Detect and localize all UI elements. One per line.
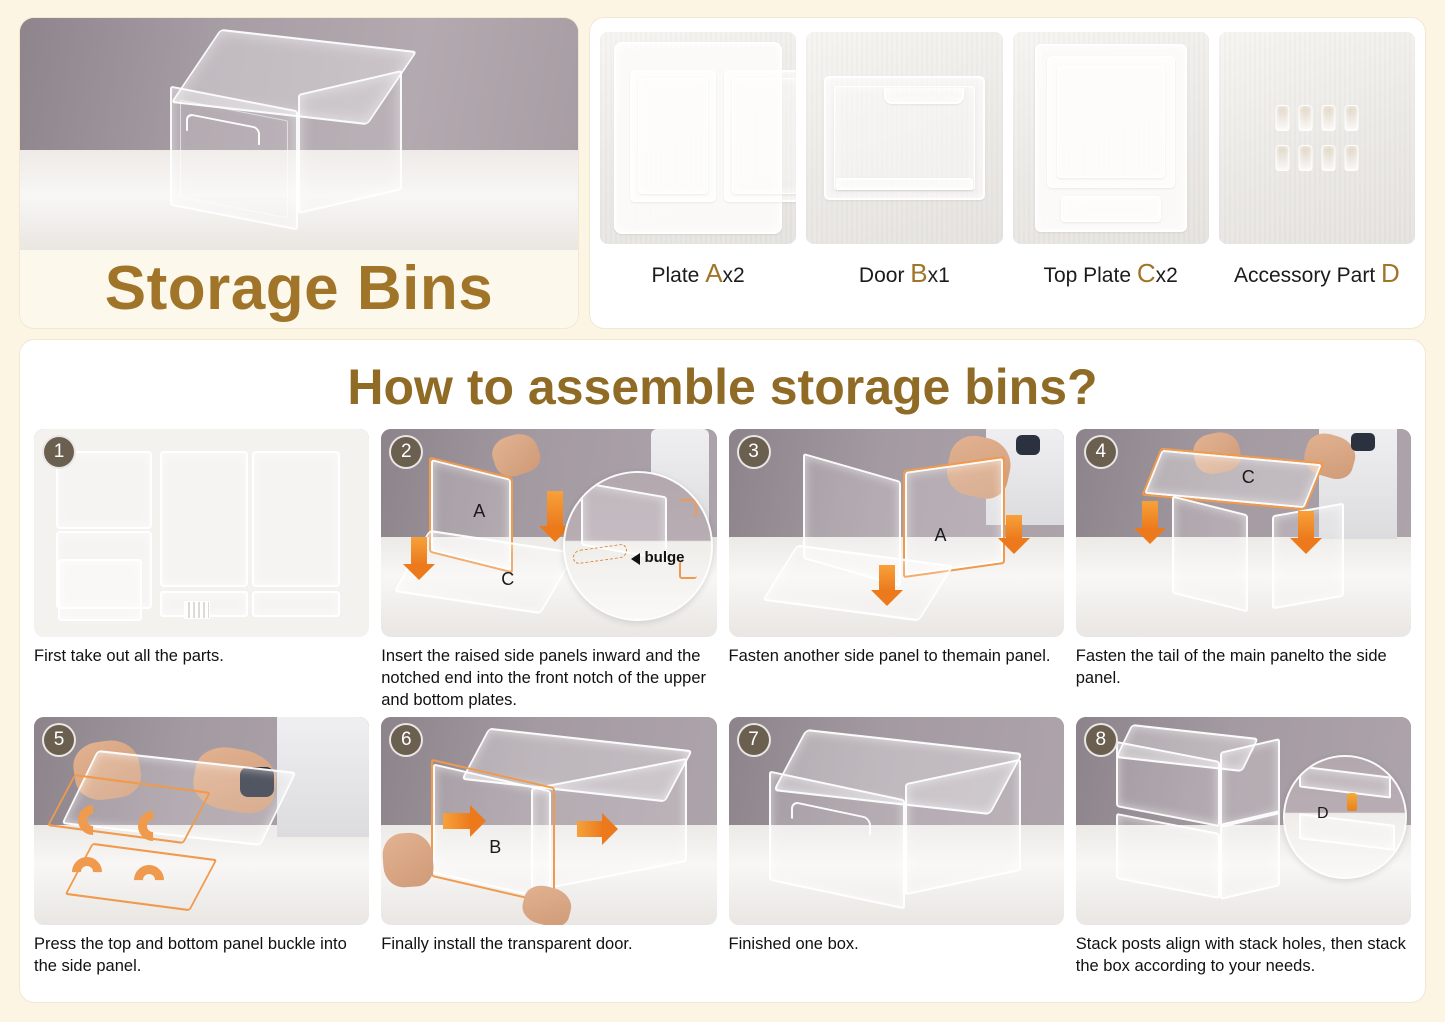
step-6-caption: Finally install the transparent door. [381,934,716,956]
arrow-down-icon [879,565,895,591]
assembly-step-8: 8 D Stack posts align with stack holes, … [1076,717,1411,999]
part-label-a: Plate Ax2 [652,258,745,289]
accessory-pin-row [1275,105,1358,131]
hero-banner: Storage Bins [20,250,578,328]
assembly-step-2: 2 A C [381,429,716,711]
part-item-b: Door Bx1 [806,32,1002,318]
step-3-photo: 3 A [729,429,1064,637]
part-top-plate-c1 [160,451,248,587]
assembly-title: How to assemble storage bins? [34,360,1411,415]
top-plate-c-inner [1057,66,1165,178]
accessory-pin [1275,105,1289,131]
bin-side-panel [298,70,402,214]
bulge-pointer-icon [631,553,640,565]
hero-product-photo [20,18,578,250]
step-number-badge: 3 [737,435,771,469]
label-c: C [1242,467,1255,488]
part-qty-a: x2 [723,264,745,287]
arrow-right-icon [443,813,471,829]
part-label-c: Top Plate Cx2 [1043,258,1177,289]
plate-a-inner-1 [638,78,708,194]
plate-a-inner-2 [732,78,796,194]
assembly-step-1: 1 First take out all the parts. [34,429,369,711]
step-number-badge: 7 [737,723,771,757]
accessory-pin [1298,145,1312,171]
accessory-pin [1321,145,1335,171]
step-number-badge: 2 [389,435,423,469]
label-c: C [501,569,514,590]
accessory-pin [1344,145,1358,171]
step-4-photo: 4 C [1076,429,1411,637]
accessory-pin [1298,105,1312,131]
part-item-c: Top Plate Cx2 [1013,32,1209,318]
part-name-c: Top Plate [1043,264,1136,287]
arrow-down-icon [1006,515,1022,539]
assembly-step-6: 6 B Finally install the transparent door… [381,717,716,999]
accessory-pin [1275,145,1289,171]
arrow-down-icon [411,537,427,565]
part-letter-d: D [1381,258,1400,288]
part-accessory-d [184,601,210,619]
part-qty-b: x1 [928,264,950,287]
part-door-b [58,559,142,621]
assembly-steps-grid: 1 First take out all the parts. [34,429,1411,1000]
arrow-down-icon [547,491,563,527]
door-b-handle [884,88,964,104]
step-1-caption: First take out all the parts. [34,646,369,668]
part-name-d: Accessory Part [1234,264,1381,287]
page-title: Storage Bins [105,258,493,320]
part-item-d: Accessory Part D [1219,32,1415,318]
accessory-pin [1321,105,1335,131]
assembly-step-5: 5 Press the top and bottom panel buckle … [34,717,369,999]
top-plate-c-thumb [1013,32,1209,244]
top-section: Storage Bins Plate Ax2 [20,18,1425,328]
side-panel-left [1172,496,1248,613]
part-qty-c: x2 [1156,264,1178,287]
step-5-photo: 5 [34,717,369,925]
part-letter-b: B [910,258,927,288]
door-b-bottom-bar [836,178,972,190]
product-storage-bin [170,40,430,230]
step-number-badge: 1 [42,435,76,469]
part-plate-foot-2 [252,591,340,617]
arrow-right-icon [577,821,603,837]
accessory-pin [1344,105,1358,131]
instruction-sheet: Storage Bins Plate Ax2 [0,0,1445,1022]
step-7-photo: 7 [729,717,1064,925]
part-label-b: Door Bx1 [859,258,950,289]
parts-list: Plate Ax2 Door Bx1 [590,18,1425,328]
step-8-photo: 8 D [1076,717,1411,925]
label-d: D [1317,805,1329,823]
part-letter-c: C [1137,258,1156,288]
step-4-caption: Fasten the tail of the main panelto the … [1076,646,1411,690]
accessory-pin-row [1275,145,1358,171]
label-a: A [935,525,947,546]
wristwatch [1016,435,1040,455]
hand-left [381,832,435,889]
part-item-a: Plate Ax2 [600,32,796,318]
assembly-step-4: 4 C Fasten the tail of the main panelto … [1076,429,1411,711]
hero-card: Storage Bins [20,18,578,328]
step-2-photo: 2 A C [381,429,716,637]
assembly-card: How to assemble storage bins? 1 First ta… [20,340,1425,1002]
detail-magnifier: D [1283,755,1407,879]
arrow-down-icon [1142,501,1158,529]
step-3-caption: Fasten another side panel to themain pan… [729,646,1064,668]
step-8-caption: Stack posts align with stack holes, then… [1076,934,1411,978]
plate-a-thumb [600,32,796,244]
wristwatch [1351,433,1375,451]
step-5-caption: Press the top and bottom panel buckle in… [34,934,369,978]
label-a: A [473,501,485,522]
label-bulge: bulge [645,549,685,566]
accessory-part-d-thumb [1219,32,1415,244]
stack-post-icon [1347,793,1357,811]
accessory-pins-group [1275,105,1358,171]
assembly-step-3: 3 A Fasten another side panel to themain… [729,429,1064,711]
assembly-step-7: 7 Finished one box. [729,717,1064,999]
part-label-d: Accessory Part D [1234,258,1400,289]
step-number-badge: 4 [1084,435,1118,469]
arrow-down-icon [1298,511,1314,539]
part-letter-a: A [705,258,722,288]
magnified-highlight [679,499,697,517]
label-b: B [489,837,501,858]
door-b-thumb [806,32,1002,244]
step-2-caption: Insert the raised side panels inward and… [381,646,716,711]
top-plate-c-foot [1061,196,1161,222]
lower-box-side [1220,810,1280,900]
detail-magnifier: bulge [563,471,713,621]
part-name-b: Door [859,264,910,287]
part-top-plate-c2 [252,451,340,587]
step-6-photo: 6 B [381,717,716,925]
step-7-caption: Finished one box. [729,934,1064,956]
part-name-a: Plate [652,264,706,287]
step-1-photo: 1 [34,429,369,637]
step-number-badge: 8 [1084,723,1118,757]
